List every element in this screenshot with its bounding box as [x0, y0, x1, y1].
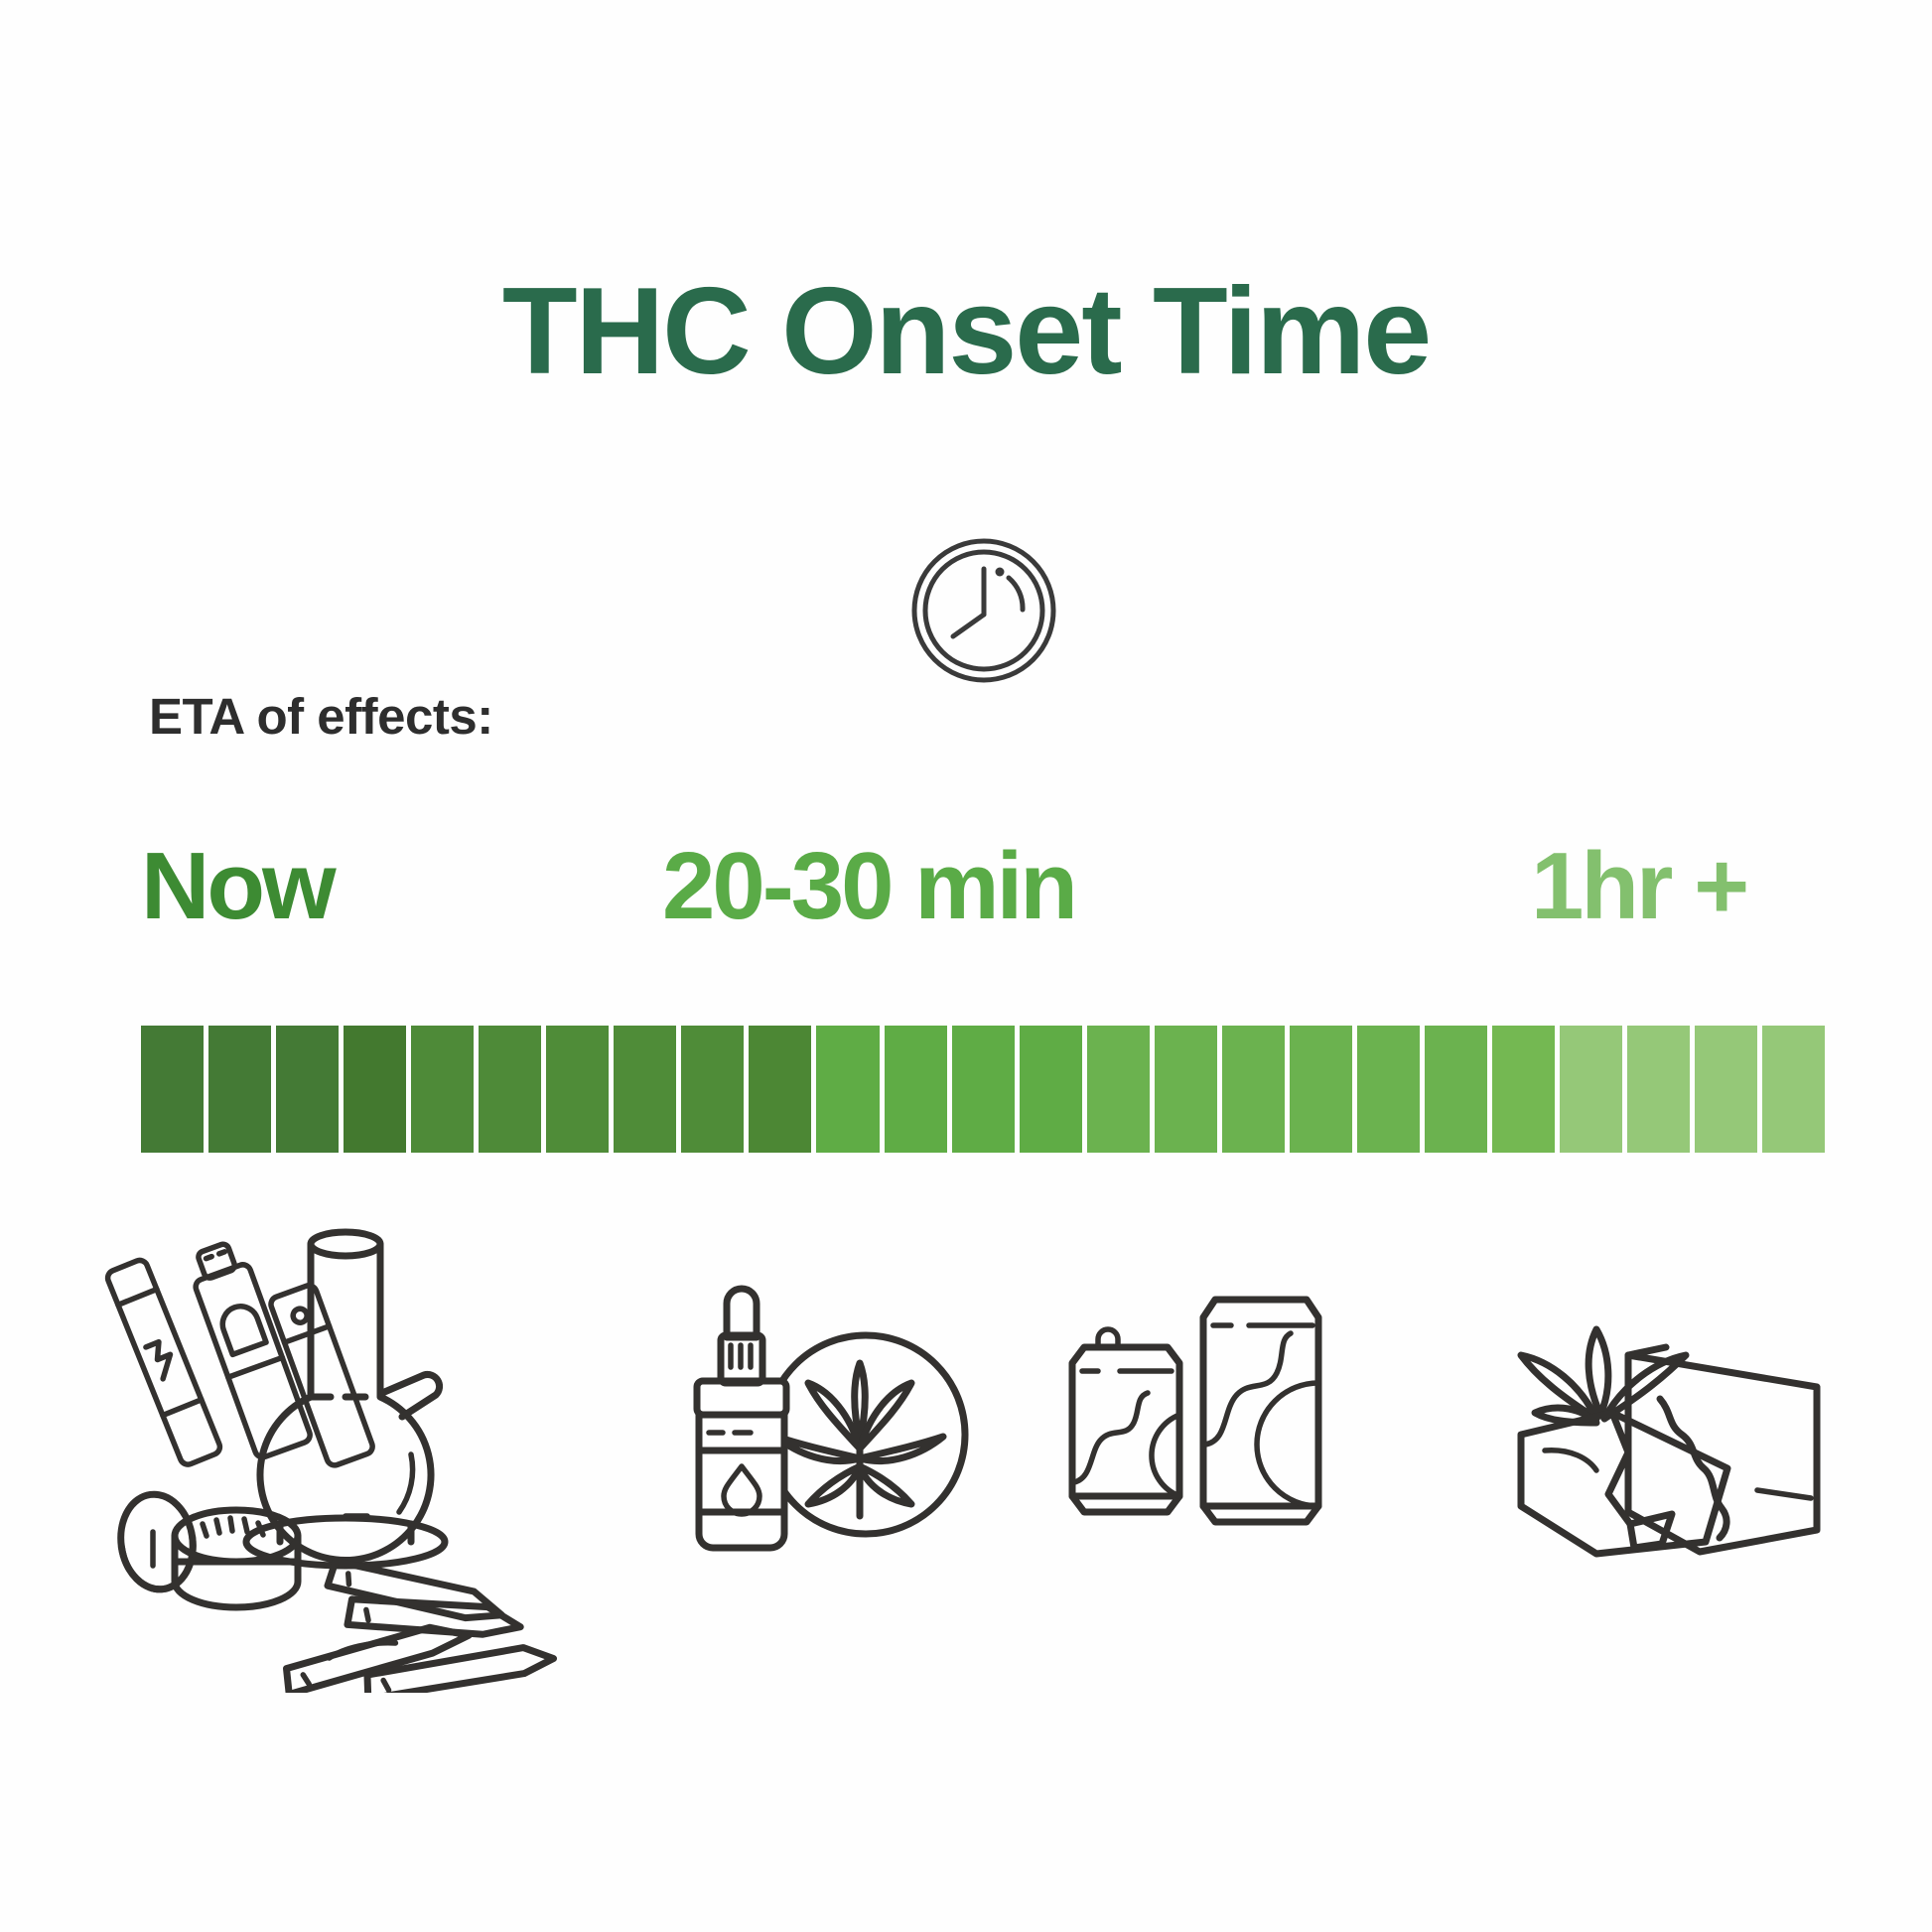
gradient-bar-segment	[952, 1026, 1015, 1153]
gradient-bar-segment	[1357, 1026, 1420, 1153]
time-label-one-hour-plus: 1hr +	[1531, 839, 1746, 934]
gradient-bar-segment	[1695, 1026, 1757, 1153]
gradient-bar-segment	[1425, 1026, 1487, 1153]
gradient-bar-segment	[411, 1026, 474, 1153]
gradient-bar-segment	[1492, 1026, 1555, 1153]
clock-icon	[909, 536, 1058, 685]
gradient-bar-segment	[816, 1026, 879, 1153]
time-scale-labels: Now 20-30 min 1hr +	[141, 839, 1829, 958]
gradient-bar-segment	[614, 1026, 676, 1153]
gradient-bar-segment	[885, 1026, 947, 1153]
gradient-bar-segment	[344, 1026, 406, 1153]
eta-of-effects-label: ETA of effects:	[149, 691, 493, 742]
infographic-canvas: THC Onset Time ETA of effects: Now 20-30…	[0, 0, 1932, 1932]
tincture-icon	[675, 1278, 973, 1576]
edibles-icon	[1501, 1264, 1829, 1582]
beverages-icon	[1064, 1288, 1342, 1566]
gradient-bar-segment	[546, 1026, 609, 1153]
gradient-bar-segment	[208, 1026, 271, 1153]
onset-gradient-bar	[141, 1026, 1825, 1153]
gradient-bar-segment	[479, 1026, 541, 1153]
product-icon-row	[0, 1216, 1932, 1693]
gradient-bar-segment	[1087, 1026, 1150, 1153]
gradient-bar-segment	[276, 1026, 339, 1153]
time-label-twenty-thirty-min: 20-30 min	[662, 839, 1075, 934]
time-label-now: Now	[141, 839, 334, 934]
gradient-bar-segment	[1222, 1026, 1285, 1153]
gradient-bar-segment	[681, 1026, 744, 1153]
gradient-bar-segment	[1020, 1026, 1082, 1153]
gradient-bar-segment	[1627, 1026, 1690, 1153]
gradient-bar-segment	[749, 1026, 811, 1153]
page-title: THC Onset Time	[0, 270, 1932, 393]
smokables-icon	[79, 1226, 576, 1693]
gradient-bar-segment	[1290, 1026, 1352, 1153]
gradient-bar-segment	[1560, 1026, 1622, 1153]
gradient-bar-segment	[141, 1026, 204, 1153]
gradient-bar-segment	[1155, 1026, 1217, 1153]
gradient-bar-segment	[1762, 1026, 1825, 1153]
